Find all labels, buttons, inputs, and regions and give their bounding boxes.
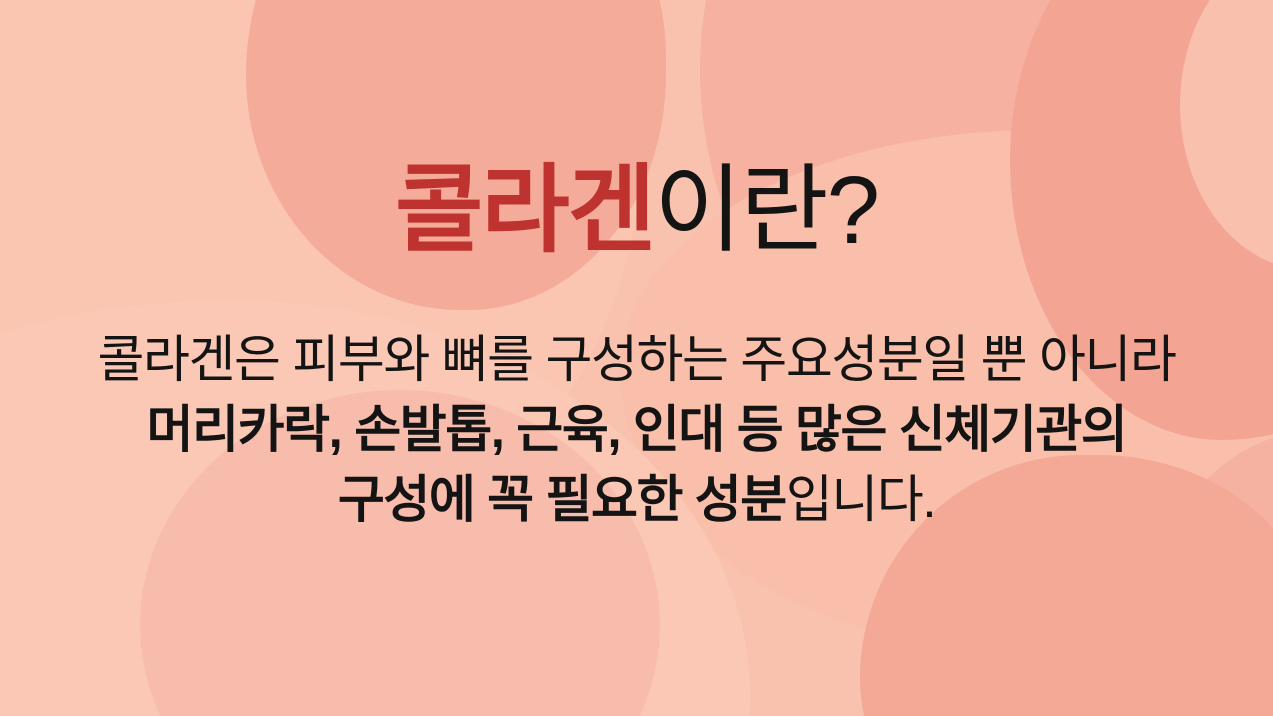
slide-content: 콜라겐이란? 콜라겐은 피부와 뼈를 구성하는 주요성분일 뿐 아니라 머리카락… [0,0,1273,716]
body-line-1: 콜라겐은 피부와 뼈를 구성하는 주요성분일 뿐 아니라 [0,325,1273,395]
body-line-3-emphasis: 구성에 꼭 필요한 성분 [338,471,786,528]
body-line-2: 머리카락, 손발톱, 근육, 인대 등 많은 신체기관의 [0,395,1273,465]
body-line-3-tail: 입니다. [786,471,935,528]
body-line-3: 구성에 꼭 필요한 성분입니다. [0,465,1273,535]
slide-canvas: 콜라겐이란? 콜라겐은 피부와 뼈를 구성하는 주요성분일 뿐 아니라 머리카락… [0,0,1273,716]
slide-title: 콜라겐이란? [395,163,878,259]
title-highlight: 콜라겐 [395,157,654,264]
title-rest: 이란? [654,157,878,264]
slide-body: 콜라겐은 피부와 뼈를 구성하는 주요성분일 뿐 아니라 머리카락, 손발톱, … [0,325,1273,535]
